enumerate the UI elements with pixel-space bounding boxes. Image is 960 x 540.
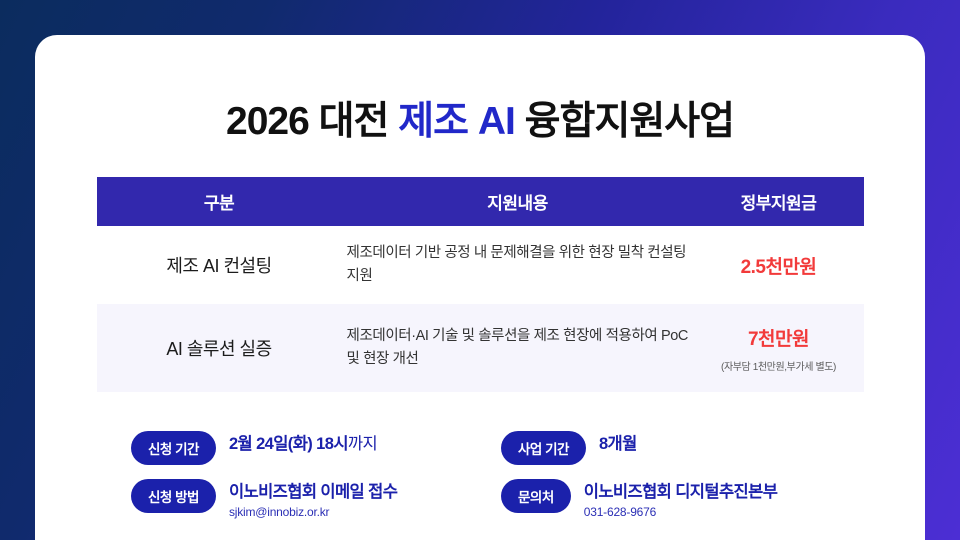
info-main-strong: 이노비즈협회 디지털추진본부 — [584, 483, 778, 501]
info-pill-label: 신청 방법 — [131, 479, 216, 513]
info-pill-label: 신청 기간 — [131, 431, 216, 465]
info-item-application-method: 신청 방법 이노비즈협회 이메일 접수 sjkim@innobiz.or.kr — [131, 478, 501, 519]
row-amount: 7천만원 — [694, 324, 864, 351]
row-amount: 2.5천만원 — [694, 252, 864, 279]
info-column-left: 신청 기간 2월 24일(화) 18시까지 신청 방법 이노비즈협회 이메일 접… — [131, 430, 501, 532]
info-item-application-period: 신청 기간 2월 24일(화) 18시까지 — [131, 430, 501, 465]
contact-phone[interactable]: 031-628-9676 — [584, 505, 778, 519]
info-main-text: 2월 24일(화) 18시까지 — [229, 430, 377, 454]
table-header-amount: 정부지원금 — [694, 189, 864, 214]
row-category: AI 솔루션 실증 — [97, 335, 342, 361]
info-text-block: 2월 24일(화) 18시까지 — [229, 430, 377, 454]
row-amount-cell: 7천만원 (자부담 1천만원,부가세 별도) — [694, 324, 864, 373]
info-main-text: 이노비즈협회 디지털추진본부 — [584, 478, 778, 502]
page-title: 2026 대전 제조 AI 융합지원사업 — [35, 90, 925, 146]
info-item-project-period: 사업 기간 8개월 — [501, 430, 871, 465]
info-item-inquiry: 문의처 이노비즈협회 디지털추진본부 031-628-9676 — [501, 478, 871, 519]
info-pill-label: 사업 기간 — [501, 431, 586, 465]
table-row: 제조 AI 컨설팅 제조데이터 기반 공정 내 문제해결을 위한 현장 밀착 컨… — [97, 226, 864, 304]
title-part-before: 2026 대전 — [226, 100, 398, 143]
info-main-strong: 2월 24일(화) 18시 — [229, 435, 348, 453]
support-table: 구분 지원내용 정부지원금 제조 AI 컨설팅 제조데이터 기반 공정 내 문제… — [97, 177, 864, 392]
info-main-strong: 8개월 — [599, 435, 637, 453]
row-amount-note: (자부담 1천만원,부가세 별도) — [694, 358, 864, 373]
row-description: 제조데이터·AI 기술 및 솔루션을 제조 현장에 적용하여 PoC 및 현장 … — [342, 325, 694, 371]
row-category: 제조 AI 컨설팅 — [97, 252, 342, 278]
info-main-text: 이노비즈협회 이메일 접수 — [229, 478, 397, 502]
info-main-text: 8개월 — [599, 430, 637, 454]
title-part-after: 융합지원사업 — [515, 100, 734, 143]
title-part-accent: 제조 AI — [398, 100, 515, 143]
info-section: 신청 기간 2월 24일(화) 18시까지 신청 방법 이노비즈협회 이메일 접… — [131, 430, 871, 532]
info-text-block: 이노비즈협회 이메일 접수 sjkim@innobiz.or.kr — [229, 478, 397, 519]
table-row: AI 솔루션 실증 제조데이터·AI 기술 및 솔루션을 제조 현장에 적용하여… — [97, 304, 864, 392]
info-column-right: 사업 기간 8개월 문의처 이노비즈협회 디지털추진본부 031-628-967… — [501, 430, 871, 532]
info-main-strong: 이노비즈협회 이메일 접수 — [229, 483, 397, 501]
info-main-soft: 까지 — [348, 435, 377, 453]
row-amount-cell: 2.5천만원 — [694, 252, 864, 279]
info-pill-label: 문의처 — [501, 479, 571, 513]
table-header-description: 지원내용 — [342, 189, 694, 214]
row-description: 제조데이터 기반 공정 내 문제해결을 위한 현장 밀착 컨설팅 지원 — [342, 242, 694, 288]
table-header-category: 구분 — [97, 189, 342, 214]
info-text-block: 이노비즈협회 디지털추진본부 031-628-9676 — [584, 478, 778, 519]
contact-email[interactable]: sjkim@innobiz.or.kr — [229, 505, 397, 519]
table-header-row: 구분 지원내용 정부지원금 — [97, 177, 864, 226]
content-card: 2026 대전 제조 AI 융합지원사업 구분 지원내용 정부지원금 제조 AI… — [35, 35, 925, 540]
info-text-block: 8개월 — [599, 430, 637, 454]
